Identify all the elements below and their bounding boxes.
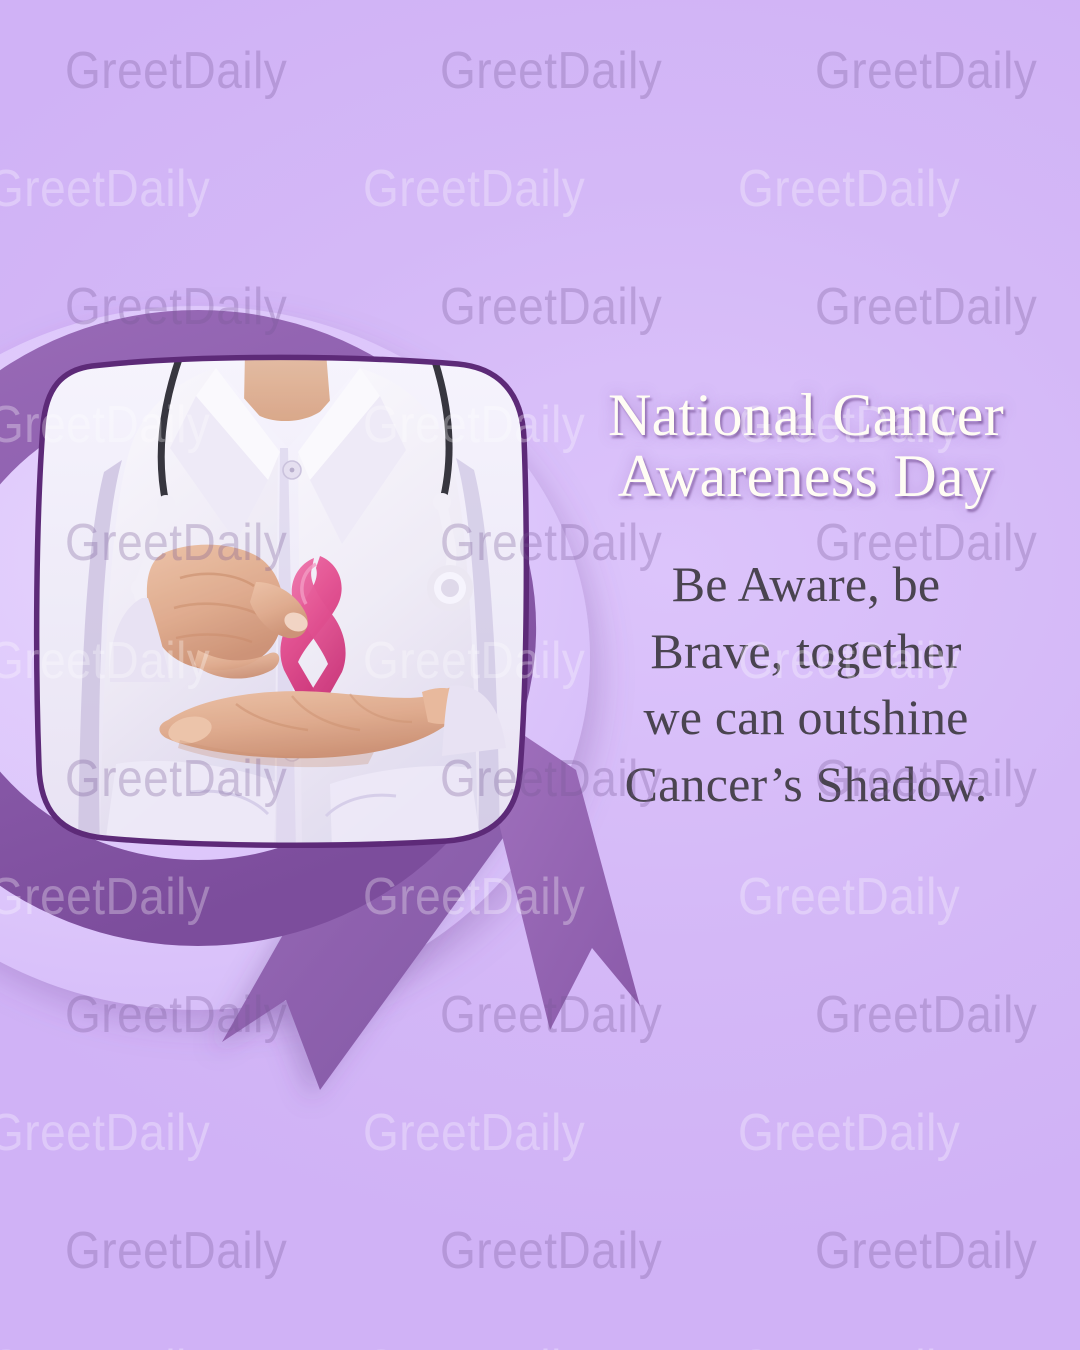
tagline-line-4: Cancer’s Shadow. bbox=[625, 756, 988, 812]
tagline-line-2: Brave, together bbox=[650, 623, 961, 679]
greeting-card-poster: National Cancer Awareness Day Be Aware, … bbox=[0, 0, 1080, 1350]
title-line-1: National Cancer bbox=[608, 382, 1004, 448]
page-title: National Cancer Awareness Day bbox=[552, 385, 1060, 507]
tagline-line-3: we can outshine bbox=[643, 689, 968, 745]
tagline-line-1: Be Aware, be bbox=[672, 556, 941, 612]
title-line-2: Awareness Day bbox=[618, 443, 995, 509]
doctor-with-ribbon-photo bbox=[30, 352, 538, 852]
text-column: National Cancer Awareness Day Be Aware, … bbox=[552, 385, 1060, 817]
photo-card bbox=[30, 352, 538, 852]
tagline: Be Aware, be Brave, together we can outs… bbox=[552, 551, 1060, 817]
